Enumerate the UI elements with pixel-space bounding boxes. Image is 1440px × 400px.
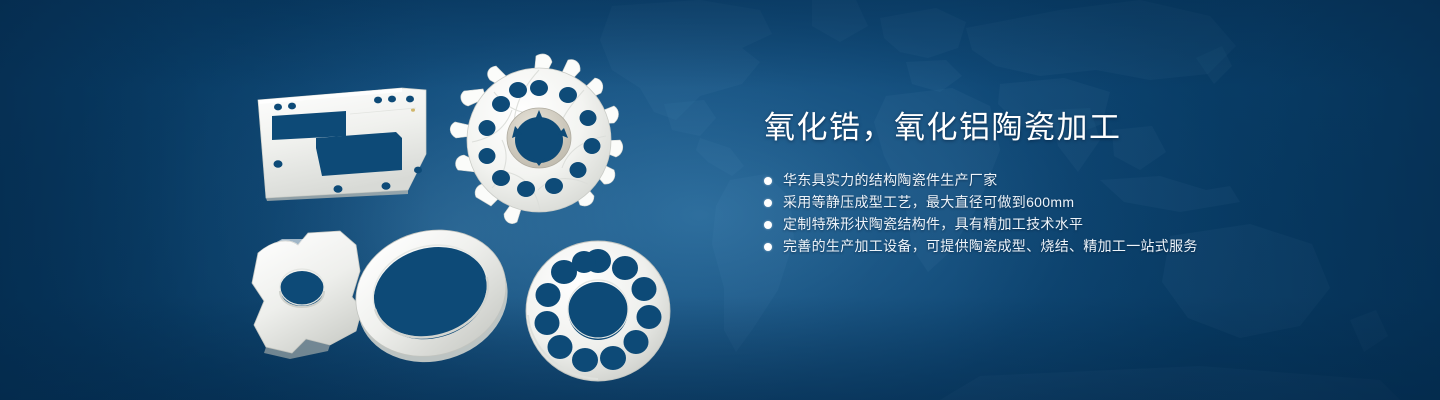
ceramic-ring [342, 223, 522, 371]
bullet-dot-icon [764, 177, 772, 185]
bullet-dot-icon [764, 221, 772, 229]
bullet-dot-icon [764, 199, 772, 207]
feature-list: 华东具实力的结构陶瓷件生产厂家 采用等静压成型工艺，最大直径可做到600mm 定… [764, 170, 1324, 257]
list-item: 华东具实力的结构陶瓷件生产厂家 [764, 170, 1324, 191]
ceramic-perforated-disc [520, 235, 680, 385]
list-item-label: 定制特殊形状陶瓷结构件，具有精加工技术水平 [783, 214, 1083, 235]
list-item-label: 采用等静压成型工艺，最大直径可做到600mm [783, 192, 1074, 213]
banner-copy: 氧化锆，氧化铝陶瓷加工 华东具实力的结构陶瓷件生产厂家 采用等静压成型工艺，最大… [764, 108, 1324, 258]
list-item: 采用等静压成型工艺，最大直径可做到600mm [764, 192, 1324, 213]
list-item: 定制特殊形状陶瓷结构件，具有精加工技术水平 [764, 214, 1324, 235]
ceramic-plate-with-cutouts [250, 78, 470, 203]
bullet-dot-icon [764, 243, 772, 251]
list-item-label: 完善的生产加工设备，可提供陶瓷成型、烧结、精加工一站式服务 [783, 236, 1198, 257]
ceramic-impeller-disc [444, 50, 634, 230]
product-image-cluster [230, 45, 720, 375]
list-item-label: 华东具实力的结构陶瓷件生产厂家 [783, 170, 998, 191]
page-title: 氧化锆，氧化铝陶瓷加工 [764, 108, 1324, 148]
list-item: 完善的生产加工设备，可提供陶瓷成型、烧结、精加工一站式服务 [764, 236, 1324, 257]
product-hero-banner: 氧化锆，氧化铝陶瓷加工 华东具实力的结构陶瓷件生产厂家 采用等静压成型工艺，最大… [0, 0, 1440, 400]
